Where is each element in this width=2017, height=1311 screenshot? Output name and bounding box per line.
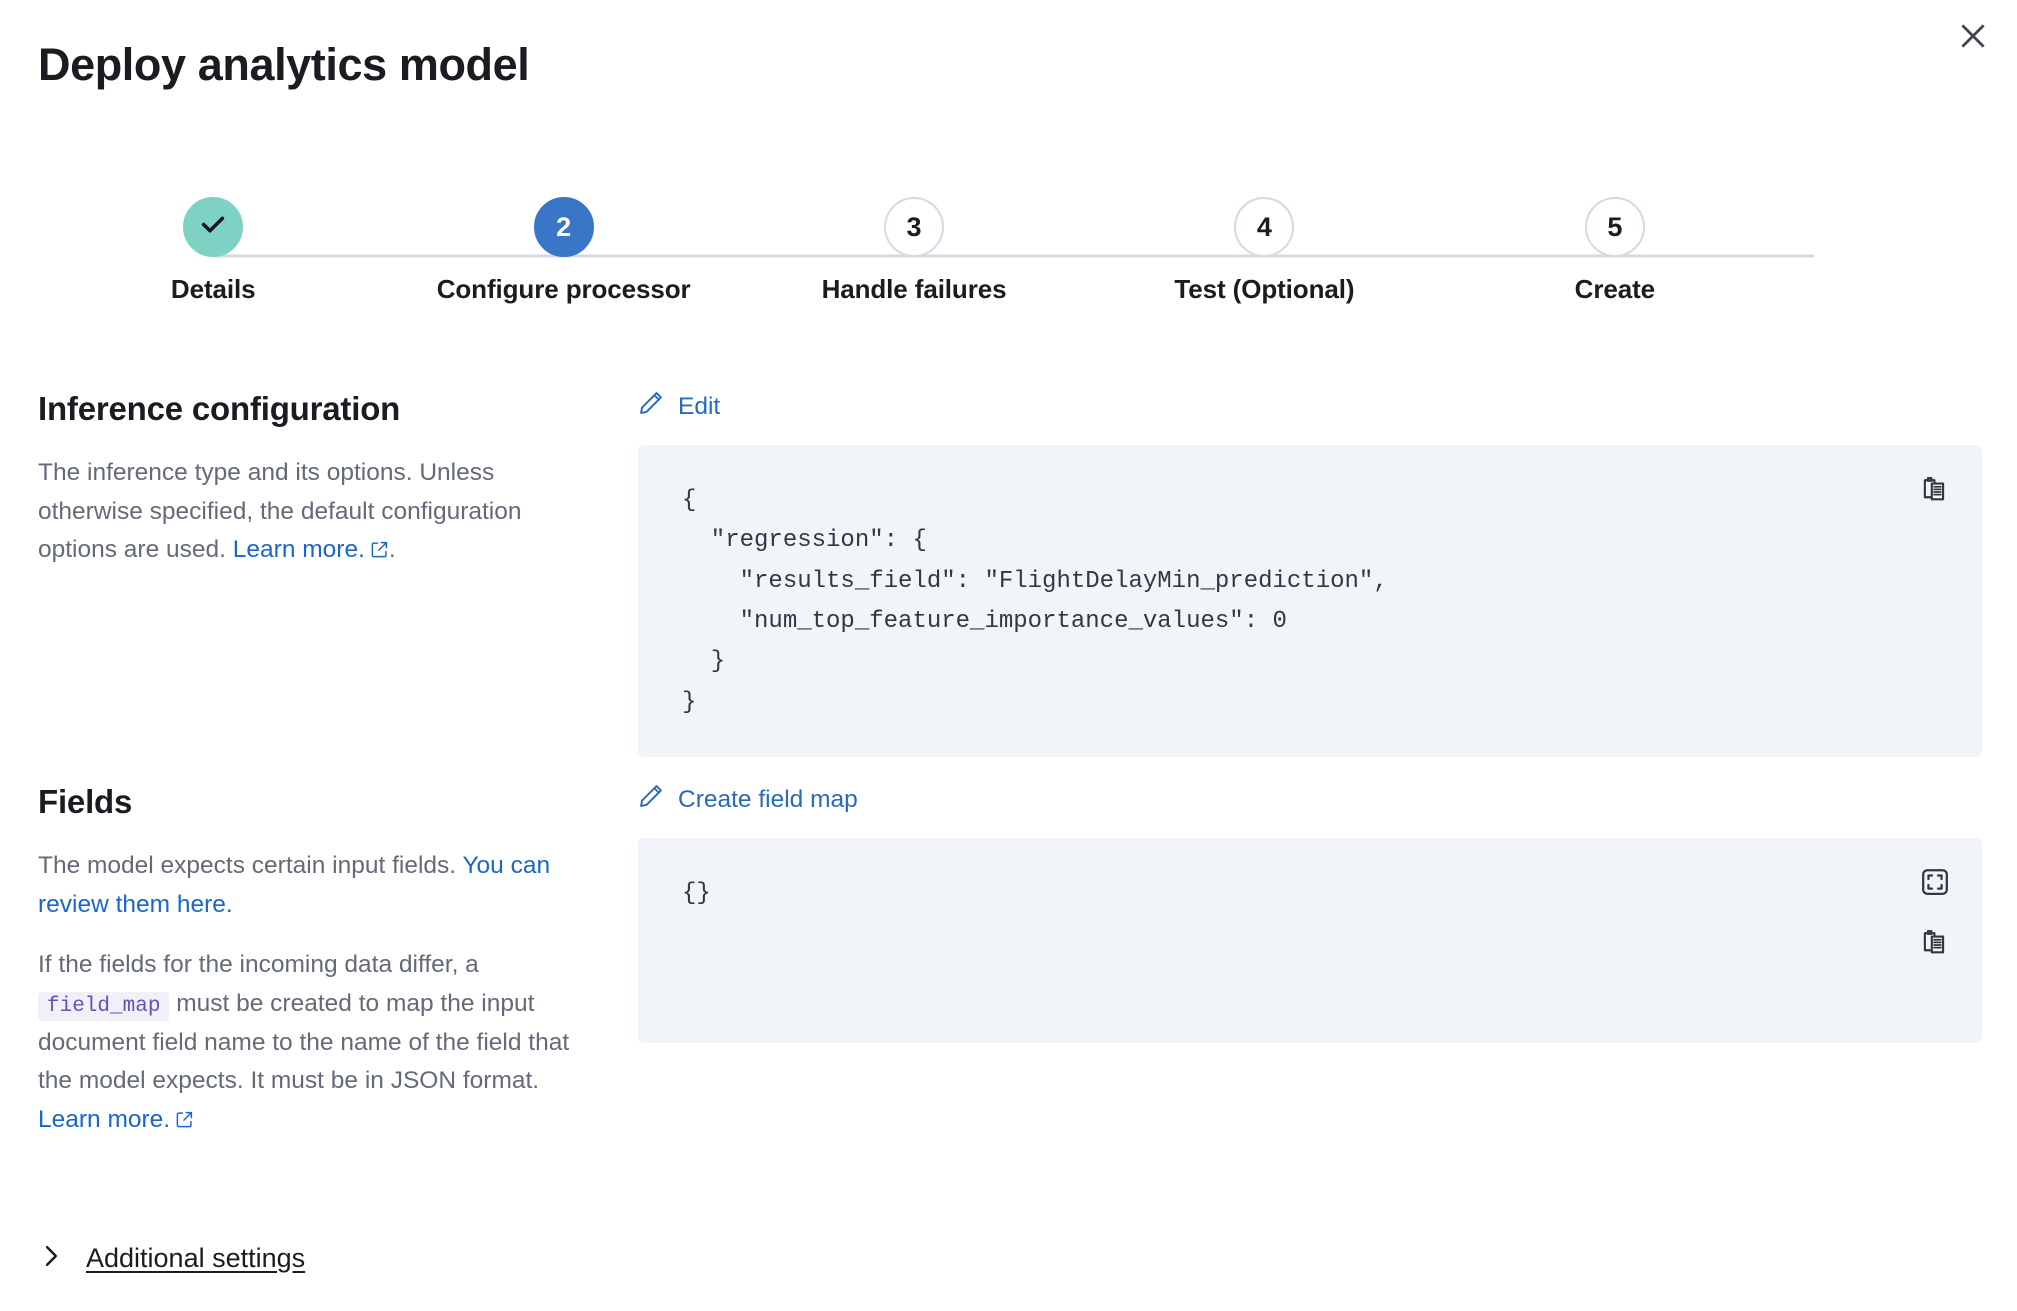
fields-description-text: The model expects certain input fields. <box>38 852 462 879</box>
fields-description-2: If the fields for the incoming data diff… <box>38 946 590 1142</box>
step-label-create[interactable]: Create <box>1440 274 1790 305</box>
copy-icon <box>1920 474 1950 507</box>
stepper-step-1[interactable] <box>38 196 388 258</box>
close-button[interactable] <box>1951 14 1995 58</box>
step-circle-configure-processor: 2 <box>534 197 594 257</box>
step-label-configure-processor[interactable]: Configure processor <box>388 274 738 305</box>
external-link-icon <box>175 1103 194 1142</box>
external-link-icon <box>370 533 389 572</box>
field-map-code-actions <box>1918 866 1952 960</box>
step-circle-handle-failures: 3 <box>884 197 944 257</box>
additional-settings-accordion[interactable]: Additional settings <box>38 1243 305 1274</box>
fields-description-column: Fields The model expects certain input f… <box>38 783 638 1142</box>
stepper-step-4[interactable]: 4 <box>1089 196 1439 258</box>
step-circle-create: 5 <box>1585 197 1645 257</box>
copy-icon <box>1920 927 1950 960</box>
fields-heading: Fields <box>38 783 590 821</box>
inference-configuration-editor-column: Edit { "regression": { "results_field": … <box>638 390 1982 757</box>
field-map-code: {} <box>682 874 1938 914</box>
step-circle-test-optional: 4 <box>1234 197 1294 257</box>
fields-section: Fields The model expects certain input f… <box>38 783 1982 1142</box>
inference-config-code-block[interactable]: { "regression": { "results_field": "Flig… <box>638 445 1982 757</box>
field-map-code-block[interactable]: {} <box>638 838 1982 1043</box>
chevron-right-icon <box>38 1243 64 1274</box>
create-field-map-link[interactable]: Create field map <box>638 783 858 816</box>
edit-inference-config-label: Edit <box>678 393 720 421</box>
fields-learn-more-link[interactable]: Learn more. <box>38 1106 170 1133</box>
inference-learn-more-link[interactable]: Learn more. <box>233 536 365 563</box>
step-label-details[interactable]: Details <box>38 274 388 305</box>
page-title: Deploy analytics model <box>38 40 529 90</box>
stepper: 2 3 4 5 Details Configure processor Hand… <box>38 196 1790 316</box>
inference-config-code: { "regression": { "results_field": "Flig… <box>682 481 1938 723</box>
step-circle-details <box>183 197 243 257</box>
close-icon <box>1959 22 1987 50</box>
inference-configuration-description: The inference type and its options. Unle… <box>38 454 590 572</box>
fields-editor-column: Create field map {} <box>638 783 1982 1142</box>
additional-settings-label: Additional settings <box>86 1243 305 1274</box>
stepper-step-2[interactable]: 2 <box>388 196 738 258</box>
inference-configuration-heading: Inference configuration <box>38 390 590 428</box>
stepper-step-3[interactable]: 3 <box>739 196 1089 258</box>
create-field-map-label: Create field map <box>678 786 858 814</box>
copy-field-map-button[interactable] <box>1918 926 1952 960</box>
check-icon <box>198 209 228 246</box>
expand-field-map-button[interactable] <box>1918 866 1952 900</box>
field-map-code-token: field_map <box>38 992 169 1021</box>
inference-configuration-section: Inference configuration The inference ty… <box>38 390 1982 757</box>
copy-inference-config-button[interactable] <box>1918 473 1952 507</box>
inference-code-actions <box>1918 473 1952 507</box>
expand-icon <box>1920 867 1950 900</box>
edit-inference-config-link[interactable]: Edit <box>638 390 720 423</box>
step-label-test-optional[interactable]: Test (Optional) <box>1089 274 1439 305</box>
inference-configuration-description-column: Inference configuration The inference ty… <box>38 390 638 757</box>
fields-description-1: The model expects certain input fields. … <box>38 847 590 924</box>
pencil-icon <box>638 390 664 423</box>
field-map-text-lead: If the fields for the incoming data diff… <box>38 951 479 978</box>
inference-description-tail: . <box>389 536 396 563</box>
pencil-icon <box>638 783 664 816</box>
deploy-model-flyout: Deploy analytics model 2 3 <box>0 0 2017 1311</box>
step-label-handle-failures[interactable]: Handle failures <box>739 274 1089 305</box>
stepper-step-5[interactable]: 5 <box>1440 196 1790 258</box>
